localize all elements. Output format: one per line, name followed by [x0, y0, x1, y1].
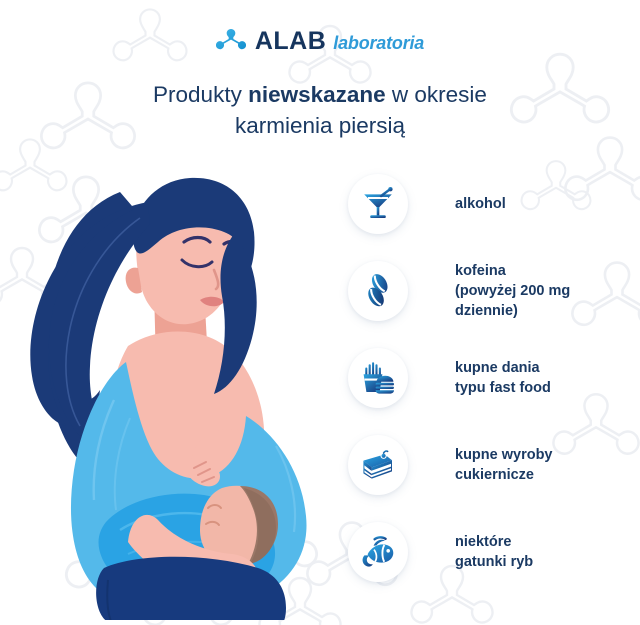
list-item[interactable]: niektóre gatunki ryb [348, 508, 628, 595]
list-item-label: alkohol [455, 194, 506, 214]
list-item-label: niektóre gatunki ryb [455, 532, 533, 572]
headline-after: w okresie [386, 82, 487, 107]
brand-name: ALAB [255, 29, 326, 54]
fish-icon [348, 522, 408, 582]
list-item[interactable]: kupne dania typu fast food [348, 334, 628, 421]
list-item-label: kupne wyroby cukiernicze [455, 445, 553, 485]
product-list: alkohol [348, 160, 628, 595]
page-title: Produkty niewskazane w okresie karmienia… [60, 80, 580, 142]
coffee-beans-icon [348, 261, 408, 321]
headline-before: Produkty [153, 82, 248, 107]
list-item-label: kofeina (powyżej 200 mg dziennie) [455, 261, 570, 321]
fast-food-fries-burger-icon [348, 348, 408, 408]
headline-emphasis: niewskazane [248, 82, 386, 107]
infographic-root: ALAB laboratoria Produkty niewskazane w … [0, 0, 640, 625]
cocktail-glass-icon [348, 174, 408, 234]
mother-breastfeeding-baby-illustration [8, 150, 328, 620]
list-item[interactable]: kupne wyroby cukiernicze [348, 421, 628, 508]
brand-logo: ALAB laboratoria [0, 26, 640, 56]
alab-trilobe-logo-icon [216, 26, 246, 56]
list-item-label: kupne dania typu fast food [455, 358, 551, 398]
list-item[interactable]: kofeina (powyżej 200 mg dziennie) [348, 247, 628, 334]
brand-subtitle: laboratoria [333, 34, 424, 52]
cake-slice-icon [348, 435, 408, 495]
list-item[interactable]: alkohol [348, 160, 628, 247]
headline-line2: karmienia piersią [235, 113, 405, 138]
